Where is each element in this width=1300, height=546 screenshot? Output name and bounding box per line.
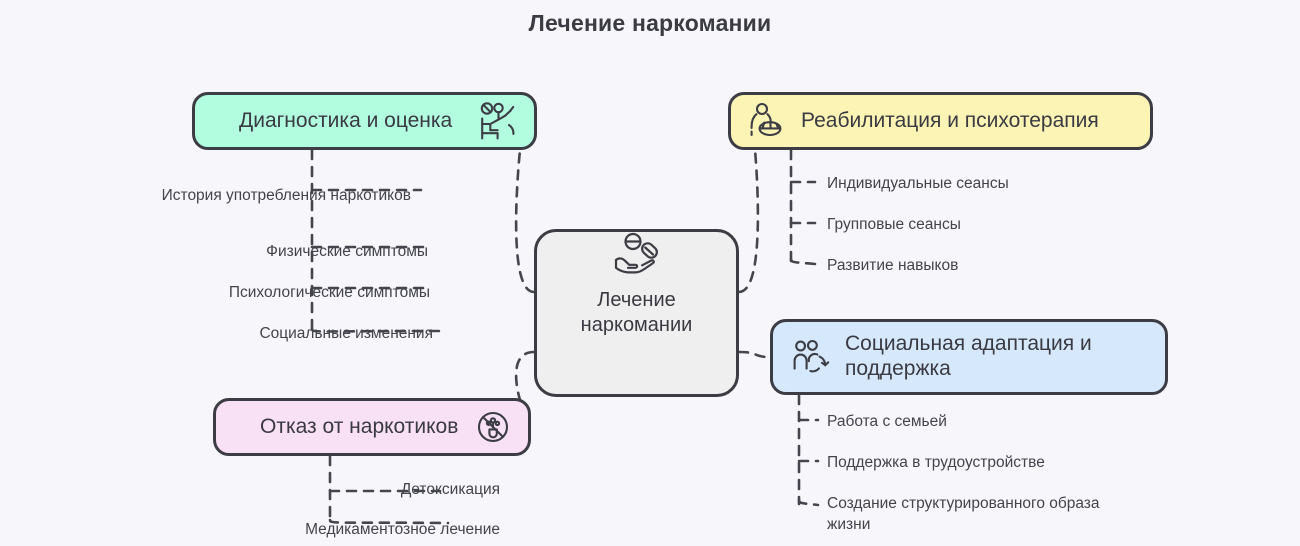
branch-node-rehabilitation-label: Реабилитация и психотерапия [801, 109, 1134, 134]
leaf-social-3: Создание структурированного образа жизни [827, 494, 1137, 536]
branch-node-social-label: Социальная адаптация иподдержка [845, 332, 1149, 382]
branch-node-refusal-label: Отказ от наркотиков [232, 415, 468, 440]
page-title: Лечение наркомании [0, 10, 1300, 37]
leaf-diagnostics-1: История употребления наркотиков [162, 186, 411, 207]
people-support-icon [789, 337, 833, 377]
pills-in-hand-icon [608, 232, 666, 276]
leaf-refusal-1: Детоксикация [401, 480, 500, 501]
mindmap-canvas: Лечение наркомании [0, 0, 1300, 546]
branch-node-social[interactable]: Социальная адаптация иподдержка [770, 319, 1168, 395]
leaf-social-1: Работа с семьей [827, 412, 947, 433]
leaf-refusal-2: Медикаментозное лечение [305, 520, 500, 541]
leaf-rehabilitation-2: Групповые сеансы [827, 215, 961, 236]
leaf-diagnostics-4: Социальные изменения [259, 324, 433, 345]
leaf-rehabilitation-3: Развитие навыков [827, 256, 958, 277]
branch-node-rehabilitation[interactable]: Реабилитация и психотерапия [728, 92, 1153, 150]
leaf-diagnostics-2: Физические симптомы [266, 242, 428, 263]
leaf-social-2: Поддержка в трудоустройстве [827, 453, 1045, 474]
central-node[interactable]: Лечениенаркомании [534, 229, 739, 397]
leaf-rehabilitation-1: Индивидуальные сеансы [827, 174, 1009, 195]
patient-examination-icon [476, 101, 518, 141]
branch-node-diagnostics[interactable]: Диагностика и оценка [192, 92, 537, 150]
branch-node-diagnostics-label: Диагностика и оценка [211, 109, 470, 134]
branch-node-refusal[interactable]: Отказ от наркотиков [213, 398, 531, 456]
no-drugs-icon [474, 408, 512, 446]
therapy-session-icon [747, 101, 789, 141]
leaf-diagnostics-3: Психологические симптомы [229, 283, 430, 304]
central-node-label: Лечениенаркомании [581, 288, 693, 394]
